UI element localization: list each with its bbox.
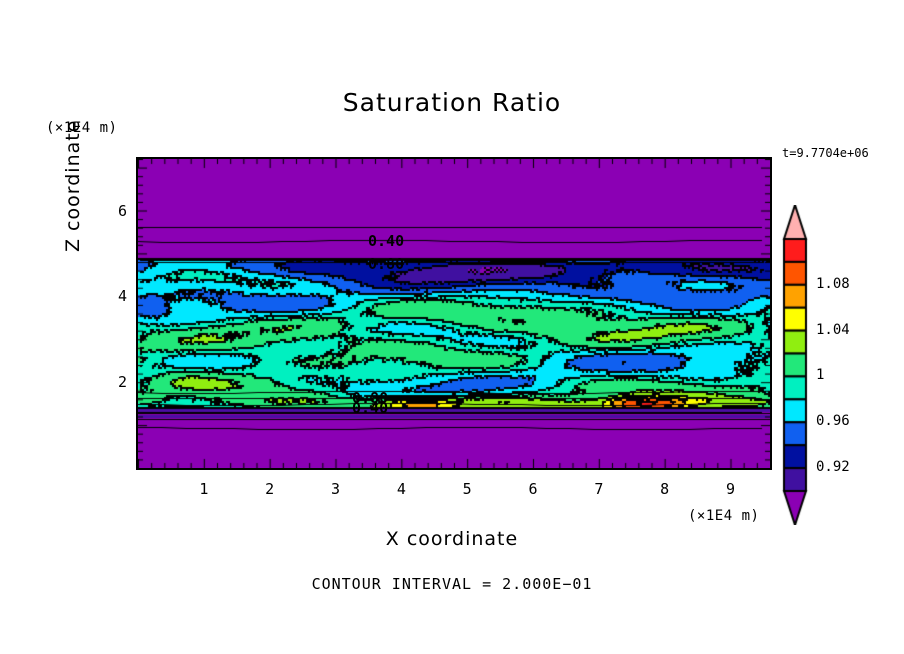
x-tick-label-2: 2 [258, 480, 282, 498]
x-tick-label-5: 5 [455, 480, 479, 498]
contour-label-0: 0.40 [368, 232, 404, 250]
colorbar-label-1-08: 1.08 [816, 276, 850, 292]
contour-interval-note: CONTOUR INTERVAL = 2.000E−01 [0, 575, 904, 593]
x-tick-label-6: 6 [521, 480, 545, 498]
page-title: Saturation Ratio [0, 88, 904, 117]
contour-label-3: 0.40 [352, 399, 388, 417]
x-tick-label-9: 9 [719, 480, 743, 498]
colorbar-label-1: 1 [816, 367, 824, 383]
x-tick-label-4: 4 [389, 480, 413, 498]
x-tick-label-8: 8 [653, 480, 677, 498]
colorbar-label-0-92: 0.92 [816, 459, 850, 475]
colorbar[interactable] [778, 205, 812, 525]
contour-field-canvas [138, 159, 770, 468]
x-axis-units-label: (×1E4 m) [688, 508, 759, 524]
colorbar-label-1-04: 1.04 [816, 322, 850, 338]
colorbar-label-0-96: 0.96 [816, 413, 850, 429]
y-tick-label-2: 2 [105, 373, 127, 391]
timestamp-annotation: t=9.7704e+06 [782, 146, 869, 160]
y-axis-title: Z coordinate [62, 112, 84, 252]
x-axis-title: X coordinate [0, 528, 904, 550]
y-tick-label-6: 6 [105, 202, 127, 220]
contour-plot-area[interactable] [136, 157, 772, 470]
x-tick-label-1: 1 [192, 480, 216, 498]
x-tick-label-7: 7 [587, 480, 611, 498]
contour-label-1: 0.80 [368, 255, 404, 273]
x-tick-label-3: 3 [324, 480, 348, 498]
y-tick-label-4: 4 [105, 287, 127, 305]
